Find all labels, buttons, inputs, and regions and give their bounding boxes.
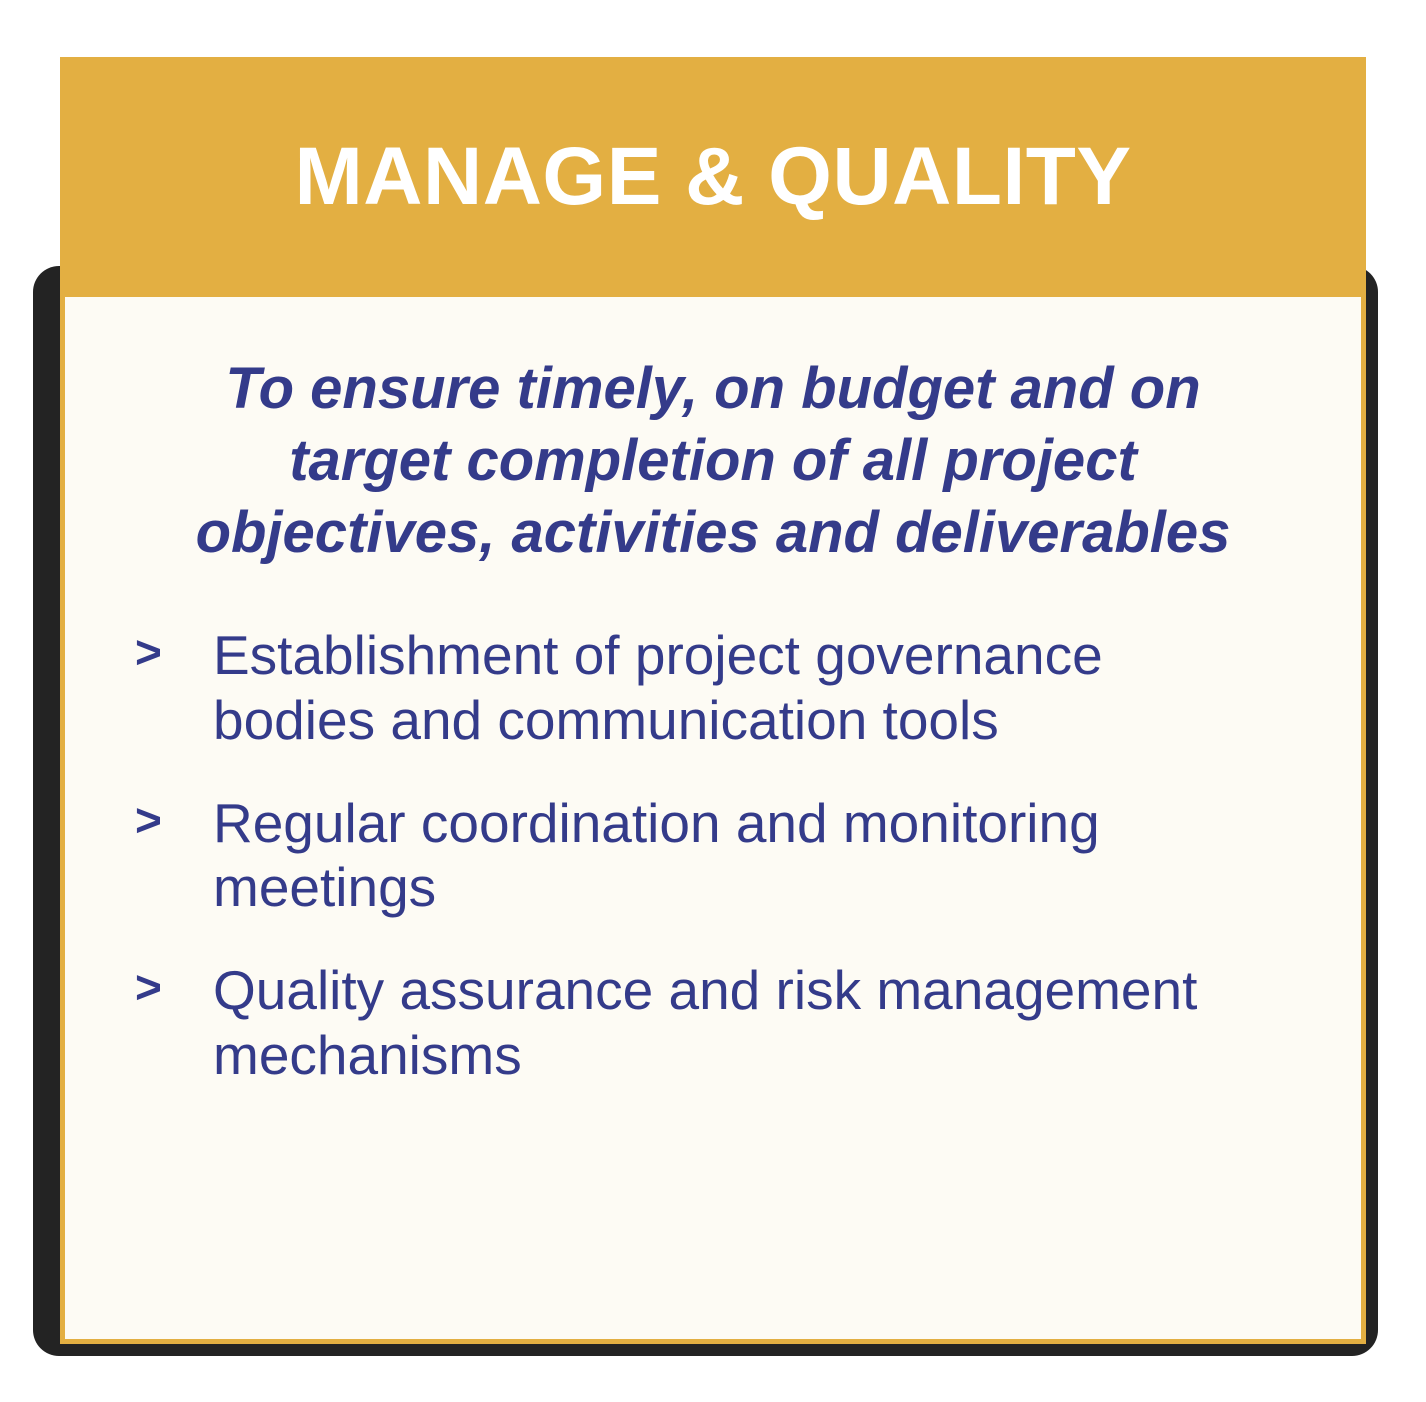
card-body: To ensure timely, on budget and on targe… xyxy=(60,297,1366,1344)
list-item-label: Quality assurance and risk management me… xyxy=(213,958,1248,1088)
info-card: MANAGE & QUALITY To ensure timely, on bu… xyxy=(0,0,1426,1402)
list-item: > Establishment of project governance bo… xyxy=(135,623,1309,753)
list-item-label: Establishment of project governance bodi… xyxy=(213,623,1248,753)
list-item: > Regular coordination and monitoring me… xyxy=(135,791,1309,921)
chevron-right-icon: > xyxy=(135,791,213,847)
bullet-list: > Establishment of project governance bo… xyxy=(117,623,1309,1088)
list-item: > Quality assurance and risk management … xyxy=(135,958,1309,1088)
page-title: MANAGE & QUALITY xyxy=(294,136,1131,218)
card-header: MANAGE & QUALITY xyxy=(60,57,1366,297)
chevron-right-icon: > xyxy=(135,623,213,679)
list-item-label: Regular coordination and monitoring meet… xyxy=(213,791,1248,921)
card-subtitle: To ensure timely, on budget and on targe… xyxy=(148,349,1278,569)
chevron-right-icon: > xyxy=(135,958,213,1014)
